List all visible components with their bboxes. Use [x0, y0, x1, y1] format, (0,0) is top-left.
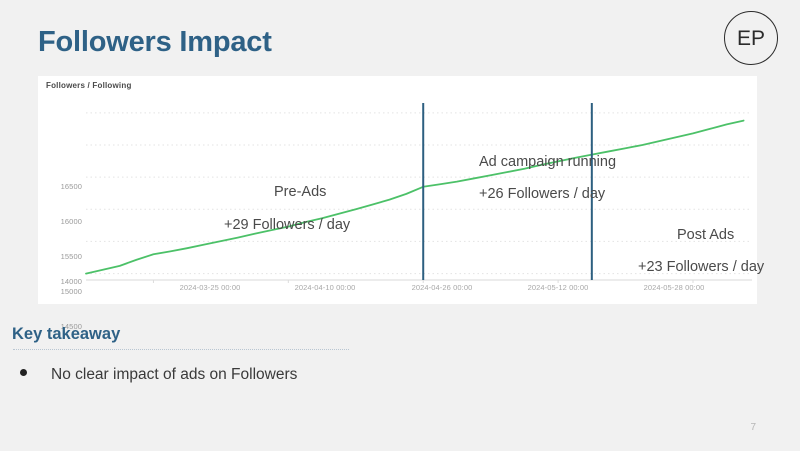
y-tick-label: 16500: [42, 182, 82, 191]
ep-logo-icon: EP: [724, 11, 778, 65]
y-tick-label: 14000: [42, 277, 82, 286]
x-tick-label: 2024-03-25 00:00: [150, 283, 270, 292]
x-tick-label: 2024-04-26 00:00: [382, 283, 502, 292]
key-takeaway-heading: Key takeaway: [12, 325, 120, 344]
logo-text: EP: [737, 28, 765, 49]
annotation-ad-campaign-rate: +26 Followers / day: [479, 186, 605, 202]
x-tick-label: 2024-04-10 00:00: [265, 283, 385, 292]
bullet-dot-icon: [20, 369, 27, 376]
annotation-ad-campaign-label: Ad campaign running: [479, 154, 616, 170]
y-tick-label: 16000: [42, 217, 82, 226]
followers-line-series: [86, 121, 744, 274]
slide-root: Followers Impact EP Followers / Followin…: [0, 0, 800, 451]
page-title: Followers Impact: [38, 26, 272, 59]
x-tick-label: 2024-05-12 00:00: [498, 283, 618, 292]
key-takeaway-divider: [13, 349, 349, 350]
chart-card: Followers / Following 16500 16000 15500 …: [38, 76, 757, 304]
y-tick-label: 15000: [42, 287, 82, 296]
annotation-post-ads-label: Post Ads: [677, 227, 734, 243]
list-item: No clear impact of ads on Followers: [20, 366, 297, 384]
annotation-pre-ads-rate: +29 Followers / day: [224, 217, 350, 233]
x-tick-label: 2024-05-28 00:00: [614, 283, 734, 292]
key-takeaway-bullet-text: No clear impact of ads on Followers: [51, 366, 297, 384]
y-tick-label: 15500: [42, 252, 82, 261]
annotation-post-ads-rate: +23 Followers / day: [638, 259, 764, 275]
annotation-pre-ads-label: Pre-Ads: [274, 184, 326, 200]
page-number: 7: [750, 422, 756, 433]
